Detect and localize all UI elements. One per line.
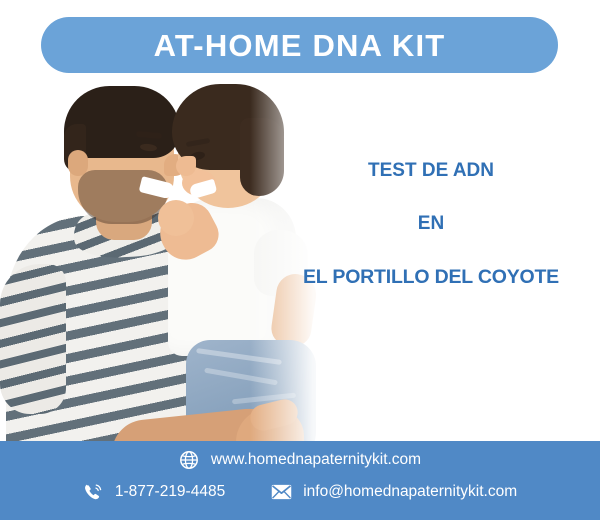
website-text: www.homednapaternitykit.com [211, 452, 421, 468]
footer-bar: www.homednapaternitykit.com 1-877-219-44… [0, 441, 600, 520]
headline-block: TEST DE ADN EN EL PORTILLO DEL COYOTE [262, 160, 600, 289]
email-text: info@homednapaternitykit.com [303, 484, 517, 500]
man-left-sleeve [0, 264, 66, 414]
child-hand [158, 200, 194, 236]
envelope-icon [271, 481, 292, 502]
man-ear [68, 150, 88, 176]
phone-icon [83, 481, 104, 502]
footer-website-row: www.homednapaternitykit.com [0, 449, 600, 470]
headline-line-3: EL PORTILLO DEL COYOTE [262, 266, 600, 289]
website-item[interactable]: www.homednapaternitykit.com [179, 449, 421, 470]
phone-item[interactable]: 1-877-219-4485 [83, 481, 225, 502]
globe-icon [179, 449, 200, 470]
headline-line-1: TEST DE ADN [262, 160, 600, 183]
headline-line-2: EN [262, 213, 600, 236]
email-item[interactable]: info@homednapaternitykit.com [271, 481, 517, 502]
child-nose [176, 156, 196, 176]
phone-text: 1-877-219-4485 [115, 484, 225, 500]
man-beard [78, 170, 168, 224]
child-bangs [176, 122, 234, 148]
footer-contact-row: 1-877-219-4485 info@homednapaternitykit.… [0, 481, 600, 502]
page-title: AT-HOME DNA KIT [154, 30, 446, 61]
header-pill: AT-HOME DNA KIT [41, 17, 558, 73]
dna-kit-banner: AT-HOME DNA KIT [0, 0, 600, 520]
